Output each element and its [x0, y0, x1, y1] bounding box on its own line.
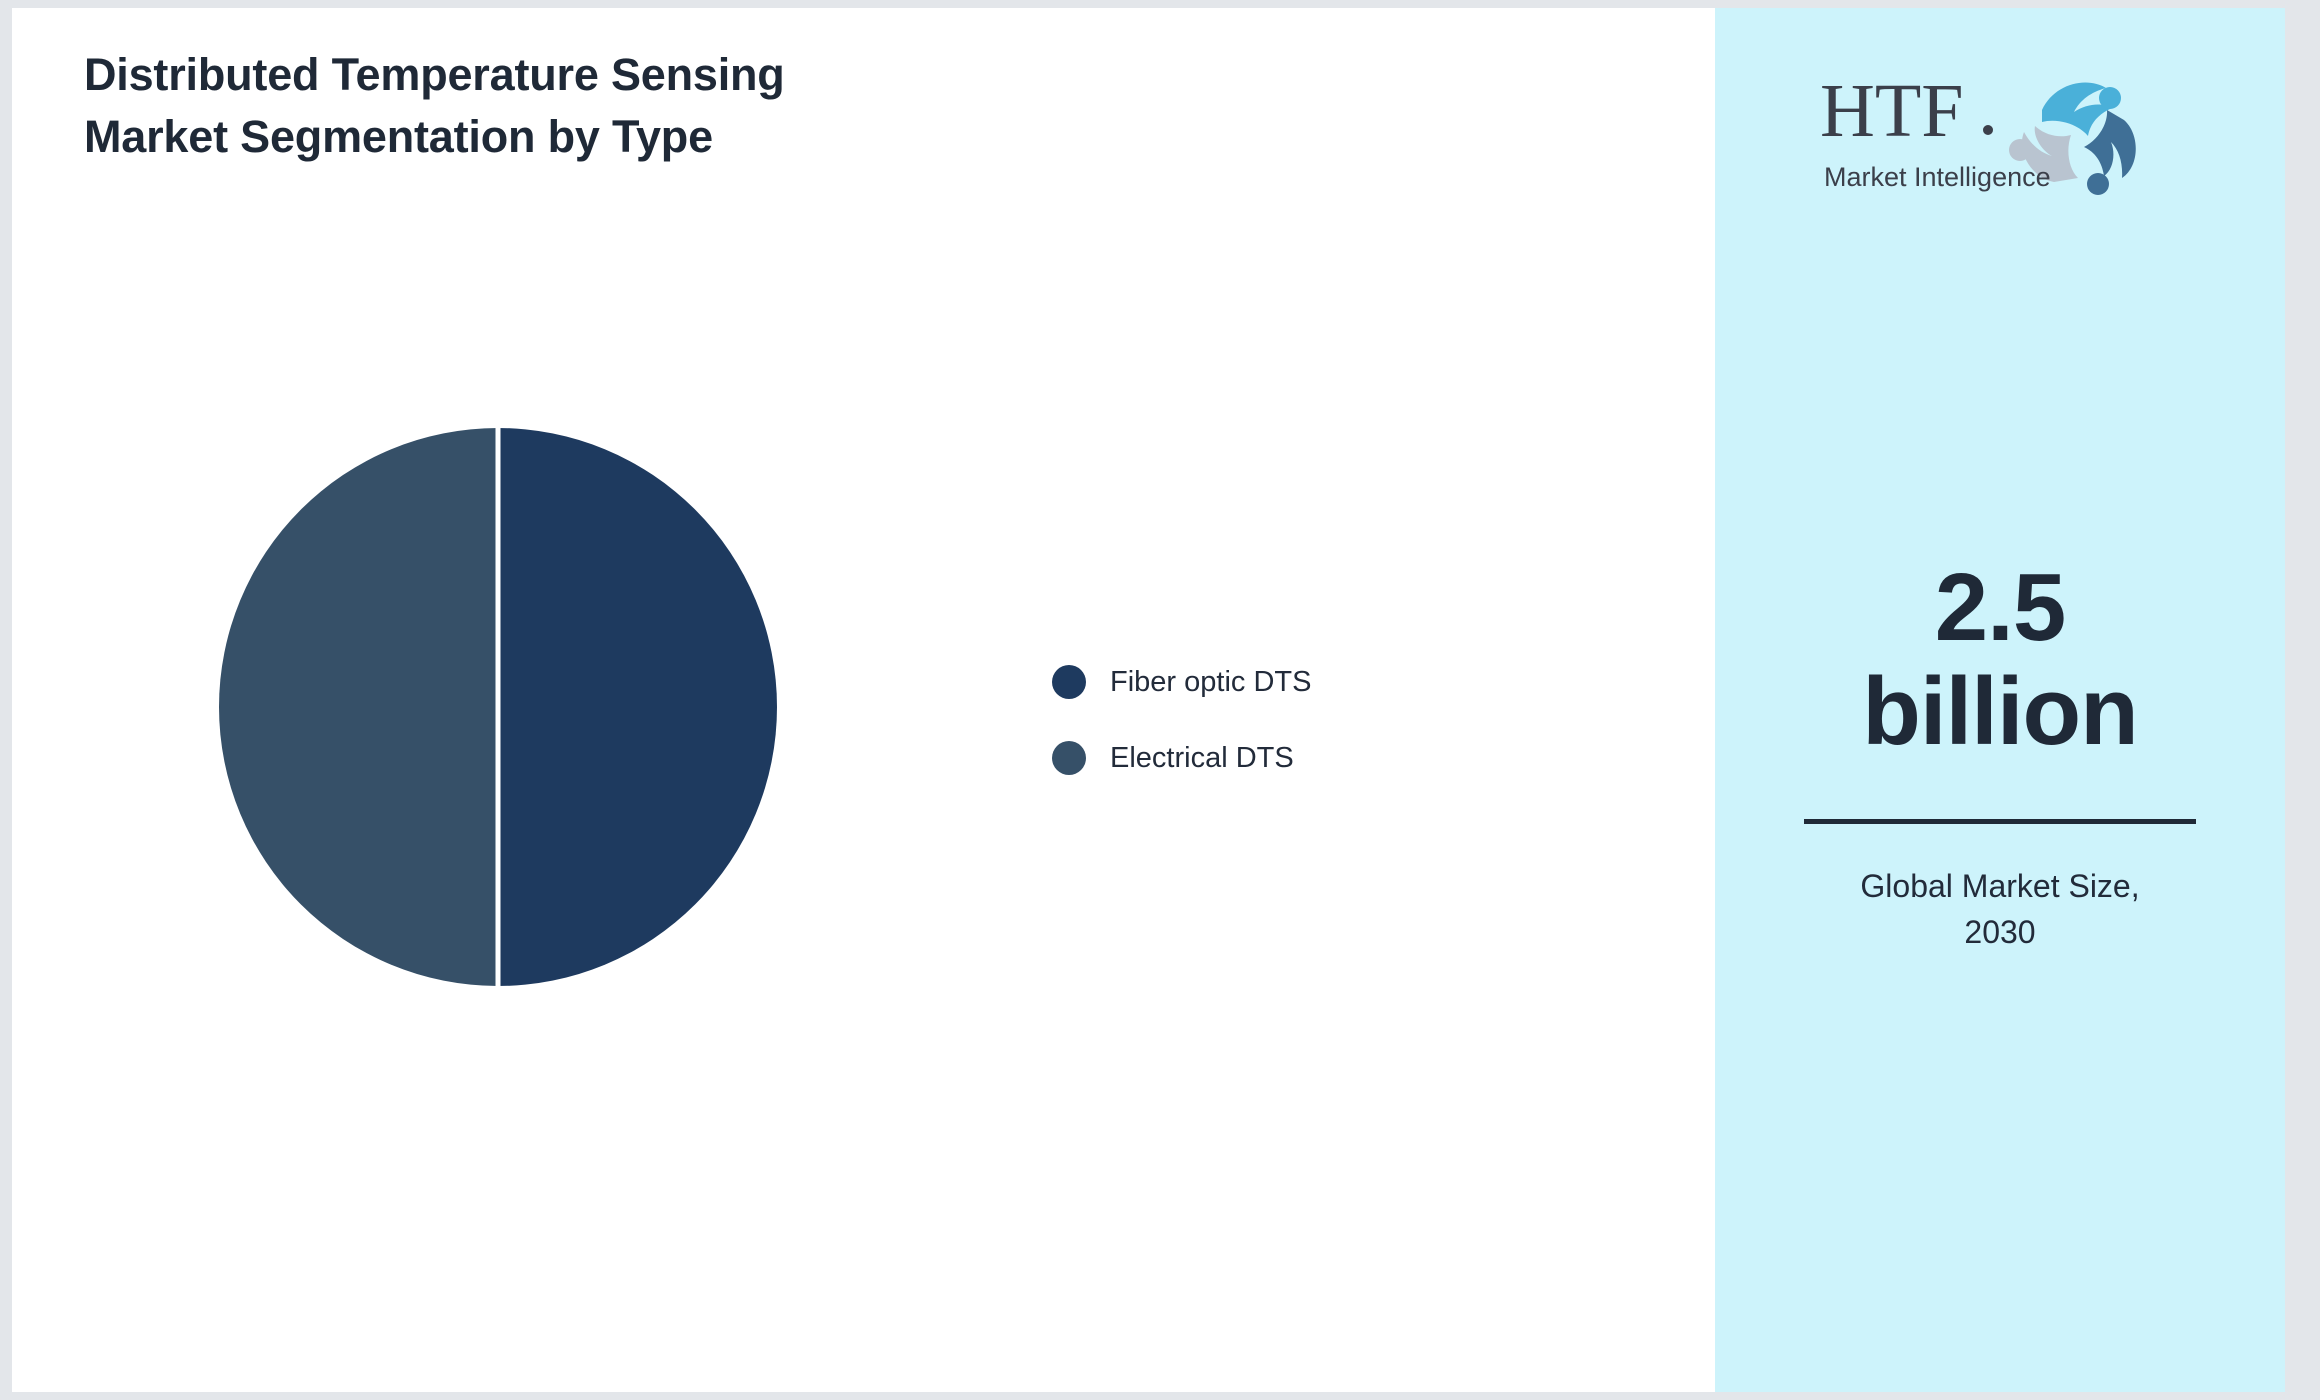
pie-slice-fiber-optic-dts	[498, 428, 777, 986]
side-panel: HTF Market Intelligence	[1715, 8, 2285, 1392]
stat-value-line-2: billion	[1715, 660, 2285, 764]
legend-item-label: Electrical DTS	[1110, 742, 1294, 775]
page-title-line-1: Distributed Temperature Sensing	[84, 44, 1084, 106]
page-title-line-2: Market Segmentation by Type	[84, 106, 1084, 168]
stat-caption-line-2: 2030	[1775, 910, 2225, 955]
chart-legend: Fiber optic DTS Electrical DTS	[1052, 644, 1572, 796]
main-panel: Distributed Temperature Sensing Market S…	[12, 8, 1715, 1392]
stat-caption: Global Market Size, 2030	[1715, 864, 2285, 955]
legend-color-swatch-icon	[1052, 741, 1086, 775]
stat-divider	[1804, 819, 2196, 824]
htf-market-intelligence-logo: HTF Market Intelligence	[1810, 58, 2190, 198]
stat-caption-line-1: Global Market Size,	[1775, 864, 2225, 909]
pie-chart	[217, 426, 779, 988]
stat-value: 2.5 billion	[1715, 556, 2285, 763]
legend-item-label: Fiber optic DTS	[1110, 666, 1311, 699]
logo-dot-icon	[1983, 125, 1993, 135]
stat-block: 2.5 billion Global Market Size, 2030	[1715, 556, 2285, 955]
pie-chart-svg	[217, 426, 779, 988]
legend-item-electrical-dts[interactable]: Electrical DTS	[1052, 720, 1572, 796]
stat-value-line-1: 2.5	[1715, 556, 2285, 660]
logo-svg: HTF Market Intelligence	[1810, 58, 2190, 198]
pie-slice-electrical-dts	[219, 428, 498, 986]
infographic-canvas: Distributed Temperature Sensing Market S…	[0, 0, 2320, 1400]
page-title: Distributed Temperature Sensing Market S…	[84, 44, 1084, 168]
logo-secondary-text: Market Intelligence	[1824, 162, 2051, 192]
logo-primary-text: HTF	[1820, 69, 1964, 153]
legend-color-swatch-icon	[1052, 665, 1086, 699]
legend-item-fiber-optic-dts[interactable]: Fiber optic DTS	[1052, 644, 1572, 720]
